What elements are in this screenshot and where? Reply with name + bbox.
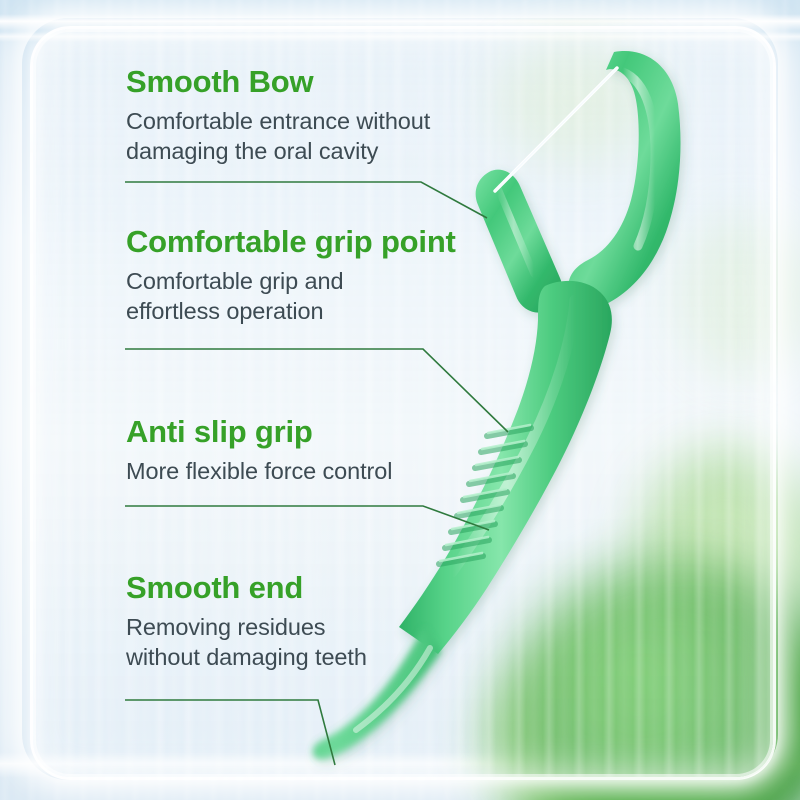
callout-comfortable-grip-point: Comfortable grip point Comfortable grip … [126, 226, 456, 327]
callout-body: Removing residues without damaging teeth [126, 612, 367, 673]
callout-body-line: Comfortable entrance without [126, 106, 430, 137]
callout-body-line: Removing residues [126, 612, 367, 643]
callout-body-line: without damaging teeth [126, 642, 367, 673]
callout-title: Anti slip grip [126, 416, 392, 449]
callout-title: Smooth end [126, 572, 367, 605]
callout-anti-slip-grip: Anti slip grip More flexible force contr… [126, 416, 392, 486]
infographic-stage: Smooth Bow Comfortable entrance without … [0, 0, 800, 800]
callout-body: Comfortable grip and effortless operatio… [126, 266, 456, 327]
callout-body: More flexible force control [126, 456, 392, 487]
callout-smooth-end: Smooth end Removing residues without dam… [126, 572, 367, 673]
callout-body-line: More flexible force control [126, 456, 392, 487]
callout-title: Comfortable grip point [126, 226, 456, 259]
callout-smooth-bow: Smooth Bow Comfortable entrance without … [126, 66, 430, 167]
callout-title: Smooth Bow [126, 66, 430, 99]
callout-body-line: Comfortable grip and [126, 266, 456, 297]
callout-body-line: effortless operation [126, 296, 456, 327]
callout-body-line: damaging the oral cavity [126, 136, 430, 167]
callout-body: Comfortable entrance without damaging th… [126, 106, 430, 167]
